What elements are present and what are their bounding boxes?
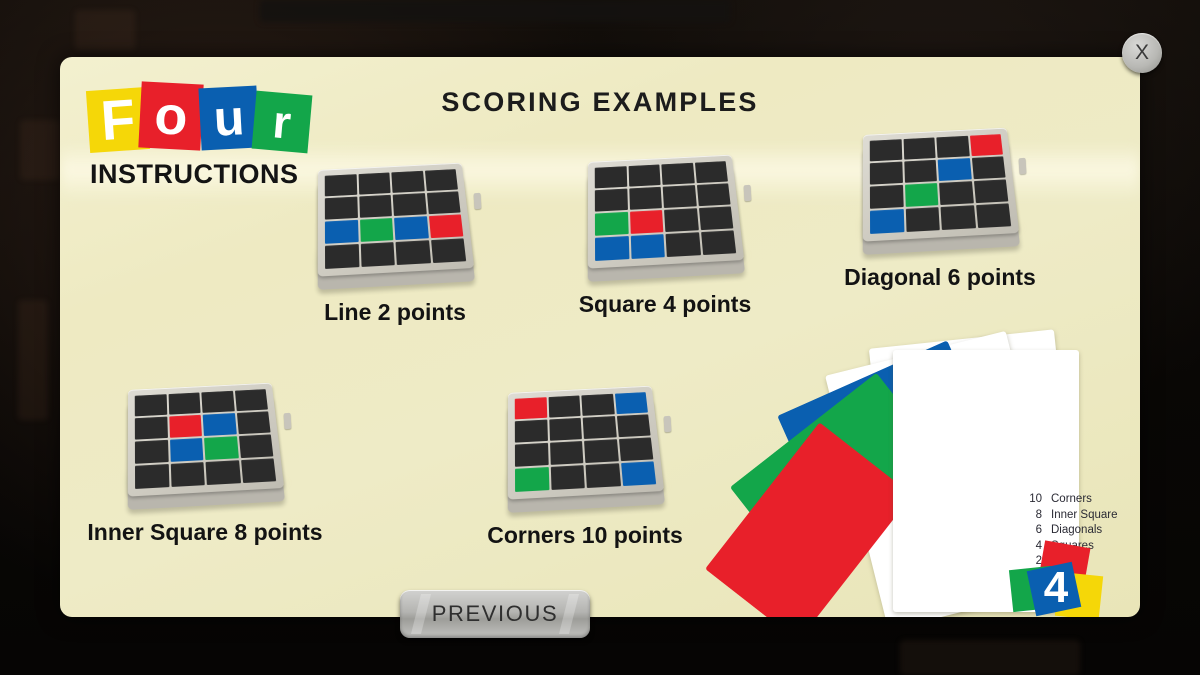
board-cell (586, 463, 621, 488)
board-cell (515, 397, 547, 419)
board-cell (936, 136, 969, 158)
board-cell (630, 210, 664, 234)
board-cell (169, 415, 202, 438)
score-legend-name: Diagonals (1051, 523, 1102, 539)
score-card-fan: 10Corners8Inner Square6Diagonals4Squares… (775, 332, 1135, 617)
instructions-panel: F o u r INSTRUCTIONS SCORING EXAMPLES Li… (60, 57, 1140, 617)
board-grid (325, 169, 466, 269)
board-grid (515, 392, 656, 492)
example-diagonal: Diagonal 6 points (855, 112, 1025, 262)
board-cell (325, 220, 358, 244)
board-cell (170, 462, 205, 487)
score-legend-row: 8Inner Square (1020, 508, 1140, 524)
board-cell (135, 464, 169, 489)
board-cell (325, 244, 359, 269)
board-cell (550, 441, 584, 465)
board-cell (584, 439, 618, 463)
board-cell (168, 392, 201, 414)
board-cell (583, 416, 617, 439)
instructions-subtitle: INSTRUCTIONS (90, 159, 299, 190)
example-caption: Line 2 points (270, 299, 520, 326)
board-cell (969, 134, 1002, 156)
board-nub-icon (744, 185, 752, 201)
board-cell (628, 164, 661, 186)
board-cell (941, 205, 976, 230)
board-cell (241, 458, 277, 483)
board-grid (135, 389, 276, 489)
score-legend-row: 6Diagonals (1020, 523, 1140, 539)
board-face (318, 163, 475, 277)
board-cell (359, 195, 392, 218)
board-nub-icon (474, 193, 482, 209)
board-cell (616, 414, 650, 437)
board-inner-square (120, 367, 290, 517)
board-cell (696, 183, 730, 206)
board-cell (396, 240, 431, 265)
board-cell (938, 158, 972, 181)
board-cell (135, 440, 168, 464)
board-cell (630, 234, 665, 259)
board-cell (426, 191, 460, 214)
board-grid (595, 161, 736, 261)
example-caption: Inner Square 8 points (80, 519, 330, 546)
board-cell (870, 185, 903, 209)
example-caption: Diagonal 6 points (815, 264, 1065, 291)
board-cell (206, 460, 241, 485)
board-cell (424, 169, 457, 191)
board-cell (614, 392, 647, 414)
board-square (580, 139, 750, 289)
board-nub-icon (1019, 158, 1027, 174)
board-face (863, 128, 1020, 242)
board-cell (870, 139, 902, 161)
board-cell (595, 166, 627, 188)
close-button[interactable]: X (1122, 33, 1162, 73)
example-caption: Corners 10 points (460, 522, 710, 549)
four-badge: 4 (1011, 544, 1103, 617)
previous-button[interactable]: PREVIOUS (400, 590, 590, 638)
board-cell (870, 162, 903, 185)
board-corners (500, 370, 670, 520)
example-caption: Square 4 points (540, 291, 790, 318)
example-corners: Corners 10 points (500, 370, 670, 520)
board-cell (976, 203, 1012, 228)
board-cell (701, 230, 737, 255)
score-legend-row: 10Corners (1020, 492, 1140, 508)
example-line: Line 2 points (310, 147, 480, 297)
board-cell (621, 461, 657, 486)
score-legend-points: 10 (1020, 492, 1042, 508)
board-cell (549, 418, 582, 441)
board-cell (358, 172, 391, 194)
board-cell (971, 156, 1005, 179)
board-cell (581, 394, 614, 416)
board-nub-icon (664, 416, 672, 432)
board-grid (870, 134, 1011, 234)
board-cell (595, 189, 628, 212)
board-cell (203, 413, 237, 436)
score-legend-name: Corners (1051, 492, 1092, 508)
board-cell (170, 438, 204, 462)
board-cell (428, 214, 463, 238)
close-icon: X (1135, 41, 1149, 65)
four-badge-number: 4 (1033, 562, 1079, 614)
board-cell (360, 242, 395, 267)
board-cell (550, 465, 585, 490)
board-cell (548, 395, 581, 417)
board-cell (234, 389, 267, 411)
board-cell (238, 434, 273, 458)
board-line (310, 147, 480, 297)
board-diagonal (855, 112, 1025, 262)
board-cell (325, 197, 358, 220)
score-legend-name: Inner Square (1051, 508, 1118, 524)
board-cell (394, 216, 428, 240)
board-cell (595, 236, 629, 261)
board-cell (905, 207, 940, 232)
board-cell (694, 161, 727, 183)
board-cell (618, 437, 653, 461)
example-square: Square 4 points (580, 139, 750, 289)
previous-button-label: PREVIOUS (432, 601, 559, 627)
board-cell (939, 181, 973, 205)
board-cell (595, 212, 628, 236)
board-cell (135, 394, 167, 416)
board-cell (204, 436, 238, 460)
board-cell (360, 218, 394, 242)
score-legend-points: 8 (1020, 508, 1042, 524)
board-cell (515, 443, 548, 467)
board-cell (515, 420, 548, 443)
board-cell (661, 163, 694, 185)
board-face (588, 155, 745, 269)
board-cell (236, 411, 270, 434)
board-cell (663, 185, 697, 208)
board-cell (904, 160, 937, 183)
board-cell (325, 174, 357, 196)
board-cell (973, 179, 1008, 203)
board-cell (391, 171, 424, 193)
example-inner-square: Inner Square 8 points (120, 367, 290, 517)
score-legend-points: 6 (1020, 523, 1042, 539)
board-cell (870, 209, 904, 234)
board-cell (201, 391, 234, 413)
board-cell (666, 232, 701, 257)
board-cell (431, 238, 467, 263)
board-face (508, 386, 665, 500)
board-cell (664, 208, 698, 232)
board-face (128, 383, 285, 497)
board-cell (515, 467, 549, 492)
board-cell (905, 183, 939, 207)
board-cell (629, 187, 662, 210)
board-cell (903, 137, 936, 159)
board-nub-icon (284, 413, 292, 429)
board-cell (393, 193, 427, 216)
board-cell (135, 417, 168, 440)
board-cell (698, 206, 733, 230)
